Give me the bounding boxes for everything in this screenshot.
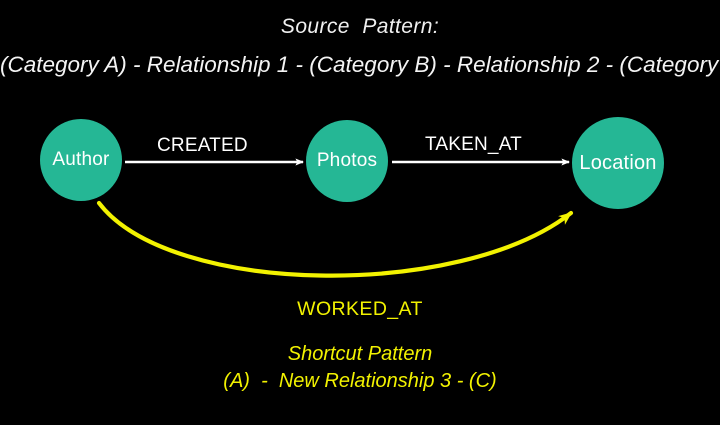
diagram-canvas: Source Pattern: (Category A) - Relations… [0, 0, 720, 425]
edge-worked-at-curve [99, 203, 571, 276]
node-author-label: Author [52, 149, 109, 171]
shortcut-pattern-expression: (A) - New Relationship 3 - (C) [0, 371, 720, 391]
node-photos-label: Photos [317, 150, 377, 172]
edge-label-taken-at: TAKEN_AT [425, 134, 522, 156]
edge-label-created: CREATED [157, 135, 248, 157]
node-location-label: Location [579, 152, 656, 175]
node-author[interactable]: Author [40, 119, 122, 201]
node-location[interactable]: Location [572, 117, 664, 209]
node-photos[interactable]: Photos [306, 120, 388, 202]
shortcut-pattern-caption: Shortcut Pattern [0, 344, 720, 364]
edge-label-worked-at: WORKED_AT [0, 298, 720, 321]
